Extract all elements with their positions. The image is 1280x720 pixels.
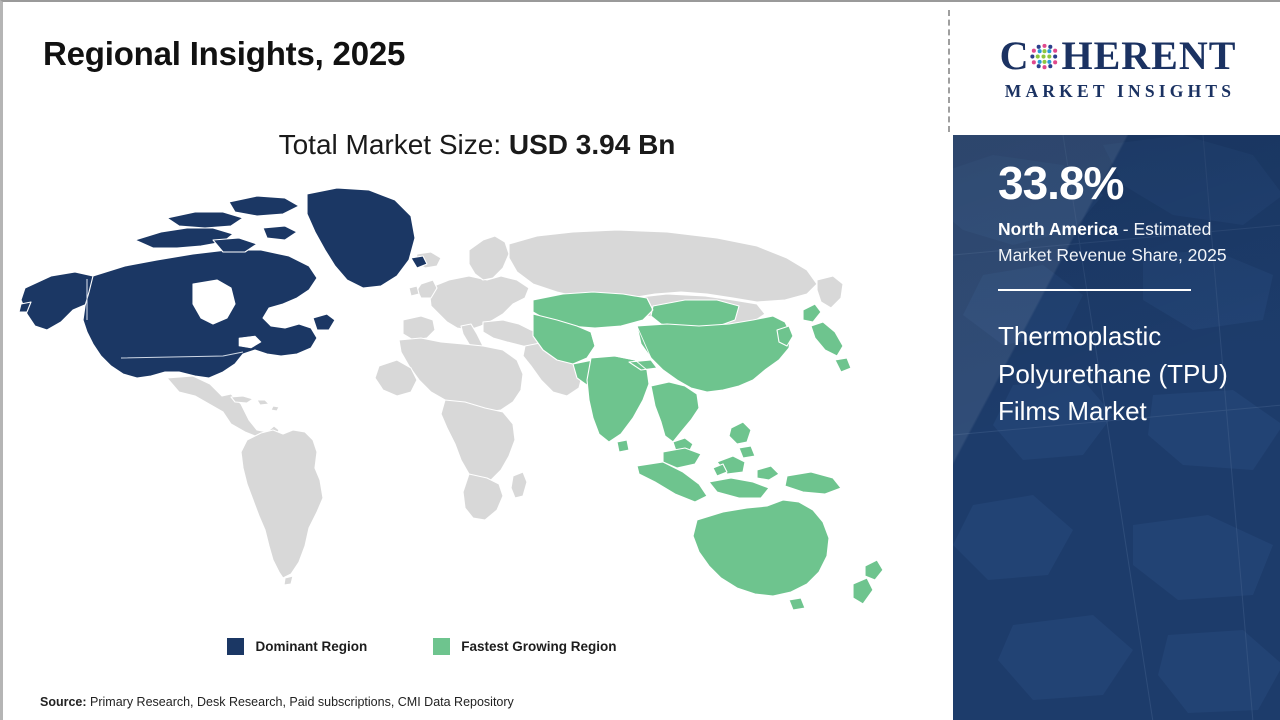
panel-divider-rule <box>998 289 1191 291</box>
logo-tagline: MARKET INSIGHTS <box>968 83 1268 101</box>
brand-logo: C <box>953 2 1280 135</box>
logo-word-herent: HERENT <box>1061 36 1236 76</box>
dotted-globe-icon <box>1029 42 1060 73</box>
market-share-value: 33.8% <box>998 159 1237 207</box>
map-legend: Dominant Region Fastest Growing Region <box>3 638 951 655</box>
legend-label-dominant: Dominant Region <box>255 639 367 654</box>
source-text: Primary Research, Desk Research, Paid su… <box>90 695 514 709</box>
logo-word-c: C <box>1000 36 1030 76</box>
map-content-area: Regional Insights, 2025 Total Market Siz… <box>3 2 951 720</box>
source-label: Source: <box>40 695 87 709</box>
square-swatch-icon-fastest-growing <box>433 638 450 655</box>
map-region-asia-pacific <box>533 292 883 610</box>
market-size-value: USD 3.94 Bn <box>509 129 676 160</box>
square-swatch-icon-dominant <box>227 638 244 655</box>
legend-item-dominant: Dominant Region <box>227 638 367 655</box>
region-name: North America <box>998 219 1118 239</box>
market-share-caption: North America - Estimated Market Revenue… <box>998 217 1237 268</box>
legend-item-fastest-growing: Fastest Growing Region <box>433 638 616 655</box>
market-size-label: Total Market Size: <box>279 129 502 160</box>
market-report-title: Thermoplastic Polyurethane (TPU) Films M… <box>998 318 1237 431</box>
regional-insights-slide: Regional Insights, 2025 Total Market Siz… <box>0 0 1280 720</box>
world-map <box>17 180 897 620</box>
page-title: Regional Insights, 2025 <box>43 35 405 73</box>
vertical-dashed-divider <box>948 10 950 132</box>
source-note: Source: Primary Research, Desk Research,… <box>40 695 514 709</box>
legend-label-fastest-growing: Fastest Growing Region <box>461 639 616 654</box>
stat-panel: 33.8% North America - Estimated Market R… <box>953 135 1280 720</box>
total-market-size: Total Market Size: USD 3.94 Bn <box>3 129 951 161</box>
